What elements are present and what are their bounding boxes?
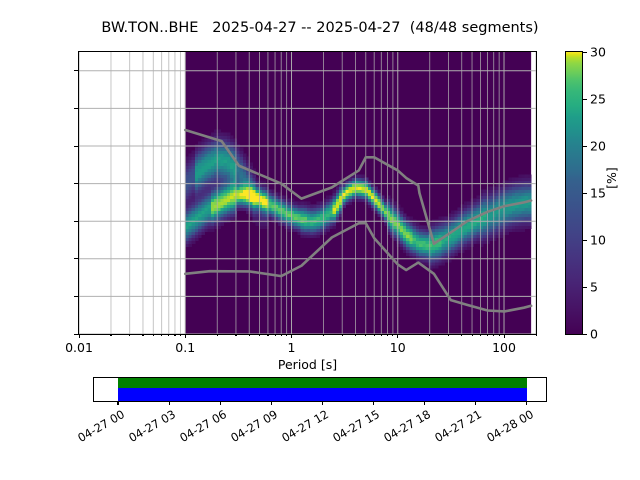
x-tick-mark	[185, 334, 186, 338]
time-tick-mark	[169, 401, 170, 405]
y-tick-mark	[74, 146, 78, 147]
time-coverage-axes[interactable]	[93, 377, 547, 402]
x-tick-mark	[392, 334, 393, 336]
colorbar-tick-label: 20	[590, 139, 606, 154]
ppsd-canvas	[79, 52, 536, 334]
colorbar-tick-label: 0	[590, 327, 598, 342]
x-tick-mark	[397, 334, 398, 338]
x-tick-mark	[536, 334, 537, 336]
x-tick-mark	[323, 334, 324, 336]
x-tick-mark	[487, 334, 488, 336]
x-tick-mark	[461, 334, 462, 336]
time-tick-label: 04-27 00	[70, 407, 127, 448]
x-tick-label: 0.1	[175, 340, 195, 355]
time-tick-mark	[475, 401, 476, 405]
x-tick-mark	[504, 334, 505, 338]
x-tick-mark	[249, 334, 250, 336]
time-tick-mark	[220, 401, 221, 405]
y-tick-mark	[74, 296, 78, 297]
x-tick-label: 1	[288, 340, 296, 355]
x-tick-mark	[180, 334, 181, 336]
x-tick-mark	[235, 334, 236, 336]
x-tick-mark	[259, 334, 260, 336]
x-tick-mark	[499, 334, 500, 336]
colorbar[interactable]	[565, 51, 583, 335]
time-tick-mark	[271, 401, 272, 405]
x-tick-mark	[129, 334, 130, 336]
x-tick-mark	[286, 334, 287, 336]
colorbar-tick-label: 10	[590, 233, 606, 248]
colorbar-tick-mark	[583, 287, 587, 288]
y-tick-mark	[74, 70, 78, 71]
coverage-bar-bottom	[118, 388, 527, 401]
x-tick-mark	[79, 334, 80, 338]
x-tick-mark	[472, 334, 473, 336]
x-tick-mark	[217, 334, 218, 336]
colorbar-tick-mark	[583, 52, 587, 53]
x-tick-mark	[480, 334, 481, 336]
x-tick-mark	[161, 334, 162, 336]
x-tick-mark	[168, 334, 169, 336]
x-tick-mark	[153, 334, 154, 336]
time-tick-label: 04-27 18	[376, 407, 433, 448]
time-tick-label: 04-27 12	[274, 407, 331, 448]
colorbar-tick-label: 25	[590, 92, 606, 107]
colorbar-tick-mark	[583, 334, 587, 335]
x-tick-mark	[110, 334, 111, 336]
x-tick-label: 10	[390, 340, 406, 355]
time-tick-label: 04-27 03	[121, 407, 178, 448]
x-tick-mark	[275, 334, 276, 336]
y-tick-mark	[74, 221, 78, 222]
x-tick-mark	[387, 334, 388, 336]
figure-title: BW.TON..BHE 2025-04-27 -- 2025-04-27 (48…	[0, 20, 640, 36]
time-tick-label: 04-27 09	[223, 407, 280, 448]
x-tick-mark	[355, 334, 356, 336]
coverage-bar-top	[118, 378, 527, 388]
y-tick-mark	[74, 258, 78, 259]
x-tick-mark	[429, 334, 430, 336]
time-tick-mark	[117, 401, 118, 405]
y-tick-mark	[74, 334, 78, 335]
x-tick-label: 100	[492, 340, 516, 355]
colorbar-label: [%]	[604, 167, 619, 189]
colorbar-tick-mark	[583, 240, 587, 241]
x-tick-mark	[174, 334, 175, 336]
x-tick-mark	[291, 334, 292, 338]
x-tick-mark	[281, 334, 282, 336]
x-tick-mark	[142, 334, 143, 336]
colorbar-tick-mark	[583, 99, 587, 100]
ppsd-plot-area[interactable]	[78, 51, 537, 335]
x-tick-mark	[267, 334, 268, 336]
colorbar-tick-mark	[583, 146, 587, 147]
time-tick-label: 04-28 00	[478, 407, 535, 448]
x-tick-mark	[448, 334, 449, 336]
time-tick-mark	[526, 401, 527, 405]
x-axis-label: Period [s]	[78, 357, 537, 372]
y-tick-mark	[74, 183, 78, 184]
x-tick-mark	[374, 334, 375, 336]
colorbar-tick-mark	[583, 193, 587, 194]
time-tick-label: 04-27 15	[325, 407, 382, 448]
x-tick-label: 0.01	[65, 340, 93, 355]
y-tick-mark	[74, 108, 78, 109]
x-tick-mark	[365, 334, 366, 336]
x-tick-mark	[342, 334, 343, 336]
ppsd-figure: BW.TON..BHE 2025-04-27 -- 2025-04-27 (48…	[0, 0, 640, 480]
time-tick-mark	[424, 401, 425, 405]
x-tick-mark	[493, 334, 494, 336]
colorbar-tick-label: 5	[590, 280, 598, 295]
time-tick-mark	[322, 401, 323, 405]
time-tick-label: 04-27 21	[427, 407, 484, 448]
x-tick-mark	[381, 334, 382, 336]
time-tick-label: 04-27 06	[172, 407, 229, 448]
time-tick-mark	[373, 401, 374, 405]
colorbar-tick-label: 30	[590, 45, 606, 60]
